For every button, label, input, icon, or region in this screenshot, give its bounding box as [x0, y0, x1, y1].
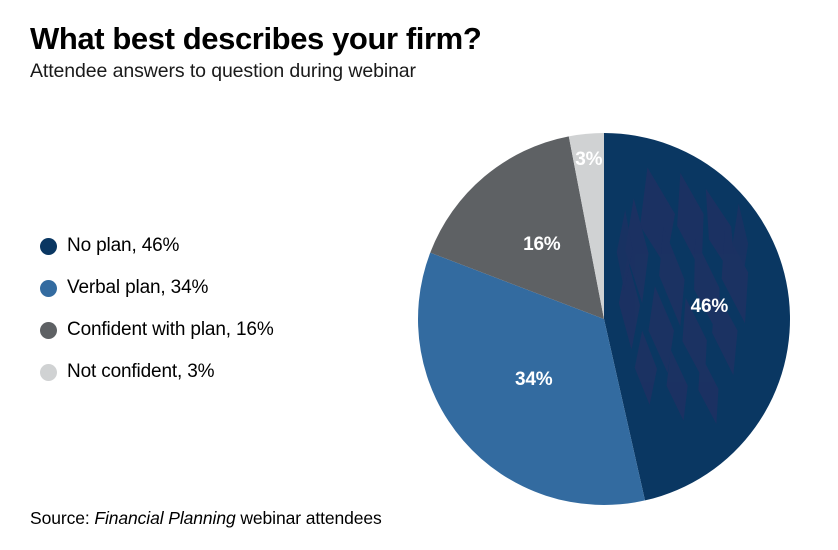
legend-swatch-icon	[40, 364, 57, 381]
legend-item-confident-with-plan: Confident with plan, 16%	[40, 309, 410, 351]
chart-canvas: What best describes your firm? Attendee …	[0, 0, 838, 550]
chart-title: What best describes your firm?	[30, 22, 820, 55]
pie-slice-label: 16%	[523, 234, 561, 255]
pie-slice	[430, 136, 604, 319]
legend-item-label: Confident with plan, 16%	[67, 319, 274, 341]
pie-slice	[604, 133, 790, 500]
legend-item-verbal-plan: Verbal plan, 34%	[40, 267, 410, 309]
pie-slice	[569, 133, 604, 319]
legend-swatch-icon	[40, 322, 57, 339]
legend-item-no-plan: No plan, 46%	[40, 225, 410, 267]
source-suffix: webinar attendees	[236, 508, 382, 528]
chart-legend: No plan, 46% Verbal plan, 34% Confident …	[40, 225, 410, 393]
legend-swatch-icon	[40, 238, 57, 255]
legend-item-label: No plan, 46%	[67, 235, 179, 257]
chart-header: What best describes your firm? Attendee …	[30, 22, 820, 83]
pie-slice-group	[418, 133, 790, 505]
source-prefix: Source:	[30, 508, 94, 528]
pie-slice	[418, 253, 645, 505]
source-note: Source: Financial Planning webinar atten…	[30, 508, 382, 529]
pie-slice-label: 46%	[691, 296, 729, 317]
pie-slice-label: 3%	[575, 149, 602, 170]
chart-subtitle: Attendee answers to question during webi…	[30, 60, 820, 82]
legend-swatch-icon	[40, 280, 57, 297]
pie-label-group: 46%34%16%3%	[515, 149, 728, 390]
watermark-logo-icon	[617, 167, 748, 424]
legend-item-label: Verbal plan, 34%	[67, 277, 208, 299]
legend-item-label: Not confident, 3%	[67, 361, 214, 383]
source-publication: Financial Planning	[94, 508, 235, 528]
legend-item-not-confident: Not confident, 3%	[40, 351, 410, 393]
pie-slice-label: 34%	[515, 369, 553, 390]
